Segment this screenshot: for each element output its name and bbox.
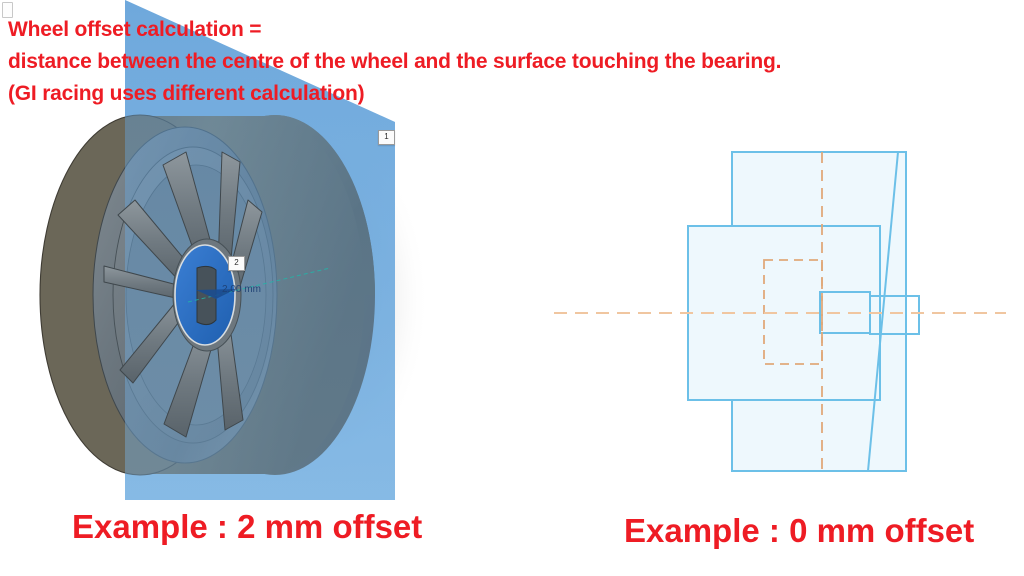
drawing-shapes — [554, 152, 1006, 471]
wheel-2d-drawing — [540, 120, 1024, 500]
corner-marker — [2, 2, 13, 18]
wheel-3d-svg — [0, 0, 500, 520]
wheel-3d-scene: 1 2 2.00 mm — [0, 0, 500, 520]
offset-dimension-value: 2.00 mm — [222, 284, 261, 295]
wheel-2d-svg — [540, 120, 1024, 500]
balloon-label-1[interactable]: 1 — [378, 130, 395, 145]
diagram-canvas: 1 2 2.00 mm — [0, 0, 1024, 576]
caption-left: Example : 2 mm offset — [72, 508, 422, 546]
caption-right: Example : 0 mm offset — [624, 512, 974, 550]
balloon-label-2[interactable]: 2 — [228, 256, 245, 271]
